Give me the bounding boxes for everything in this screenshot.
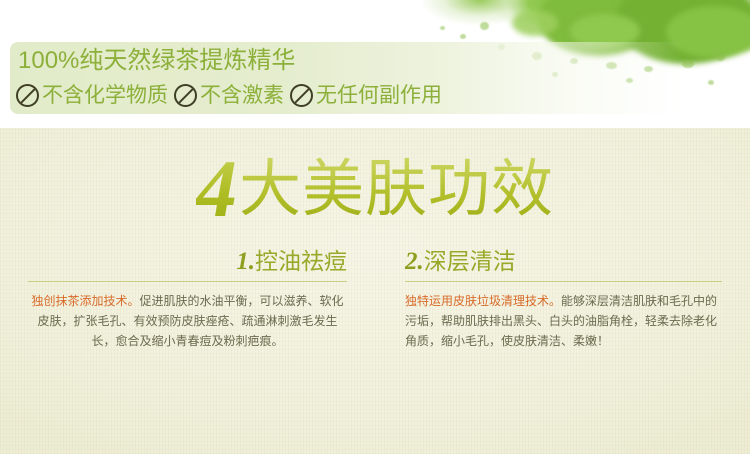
benefit-columns: 1.控油祛痘 独创抹茶添加技术。促进肌肤的水油平衡，可以滋养、软化皮肤，扩张毛孔… [0,248,750,351]
prohibition-icon [174,84,197,107]
claim-item: 无任何副作用 [290,84,442,107]
benefit-body-1: 独创抹茶添加技术。促进肌肤的水油平衡，可以滋养、软化皮肤，扩张毛孔、有效预防皮肤… [28,291,347,351]
benefit-title-label-2: 深层清洁 [424,249,516,274]
headline-number: 4 [196,143,237,234]
powder-speck [480,22,489,30]
benefit-index-1: 1. [236,248,255,275]
product-detail-page: 100%纯天然绿茶提炼精华 不含化学物质 不含激素 无任何副作用 4大美肤功效 [0,0,750,454]
claim-item: 不含化学物质 [16,84,168,107]
benefit-index-2: 2. [405,248,424,275]
benefit-body-2: 独特运用皮肤垃圾清理技术。能够深层清洁肌肤和毛孔中的污垢，帮助肌肤排出黑头、白头… [405,291,722,351]
claim-label: 不含激素 [200,85,284,106]
benefit-highlight-2: 独特运用皮肤垃圾清理技术。 [405,294,561,308]
main-headline: 4大美肤功效 [0,148,750,230]
powder-speck [716,54,725,61]
claim-item: 不含激素 [174,84,284,107]
powder-blob [512,10,558,36]
banner-headline: 100%纯天然绿茶提炼精华 [18,49,295,73]
prohibition-icon [16,84,39,107]
benefit-title-label-1: 控油祛痘 [255,249,347,274]
prohibition-icon [290,84,313,107]
powder-speck [440,26,445,30]
claim-label: 不含化学物质 [42,85,168,106]
benefit-column-2: 2.深层清洁 独特运用皮肤垃圾清理技术。能够深层清洁肌肤和毛孔中的污垢，帮助肌肤… [375,248,750,351]
banner-claims: 不含化学物质 不含激素 无任何副作用 [16,84,442,107]
benefit-highlight-1: 独创抹茶添加技术。 [31,294,139,308]
benefits-section: 4大美肤功效 1.控油祛痘 独创抹茶添加技术。促进肌肤的水油平衡，可以滋养、软化… [0,128,750,454]
claim-label: 无任何副作用 [316,85,442,106]
headline-text: 大美肤功效 [239,156,554,224]
top-banner: 100%纯天然绿茶提炼精华 不含化学物质 不含激素 无任何副作用 [0,0,750,128]
powder-speck [460,34,466,39]
benefit-column-1: 1.控油祛痘 独创抹茶添加技术。促进肌肤的水油平衡，可以滋养、软化皮肤，扩张毛孔… [0,248,375,351]
benefit-title-2: 2.深层清洁 [405,248,722,282]
benefit-title-1: 1.控油祛痘 [28,248,347,282]
